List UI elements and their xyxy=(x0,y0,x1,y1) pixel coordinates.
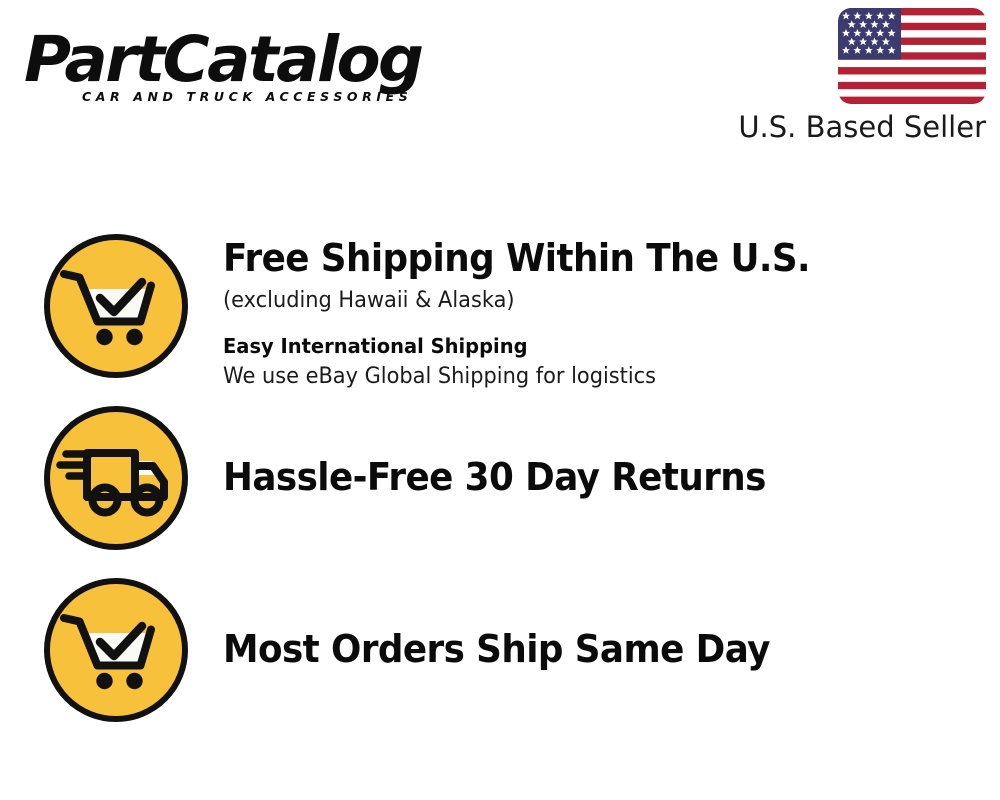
feature-row: Most Orders Ship Same Day xyxy=(0,576,1000,724)
us-flag-icon xyxy=(838,8,986,104)
feature-row: Free Shipping Within The U.S. (excluding… xyxy=(0,232,1000,392)
feature-heading: Most Orders Ship Same Day xyxy=(223,626,770,672)
feature-text-block: Free Shipping Within The U.S. (excluding… xyxy=(223,232,848,392)
feature-heading: Hassle-Free 30 Day Returns xyxy=(223,454,766,500)
page-header: PartCatalog CAR AND TRUCK ACCESSORIES xyxy=(0,0,1000,170)
shopping-cart-check-icon xyxy=(42,232,190,380)
feature-note: (excluding Hawaii & Alaska) xyxy=(223,286,816,316)
feature-heading: Free Shipping Within The U.S. xyxy=(223,235,810,281)
shopping-cart-check-icon xyxy=(42,576,190,724)
feature-sub-note: We use eBay Global Shipping for logistic… xyxy=(223,362,816,392)
feature-text-block: Most Orders Ship Same Day xyxy=(223,576,805,672)
us-based-seller-label: U.S. Based Seller xyxy=(726,110,986,144)
feature-text-block: Hassle-Free 30 Day Returns xyxy=(223,404,800,500)
brand-logo[interactable]: PartCatalog CAR AND TRUCK ACCESSORIES xyxy=(24,26,494,108)
us-based-seller-badge: U.S. Based Seller xyxy=(726,8,986,144)
delivery-truck-icon xyxy=(42,404,190,552)
brand-wordmark: PartCatalog xyxy=(24,26,503,94)
feature-sub-title: Easy International Shipping xyxy=(223,333,816,360)
feature-row: Hassle-Free 30 Day Returns xyxy=(0,404,1000,552)
